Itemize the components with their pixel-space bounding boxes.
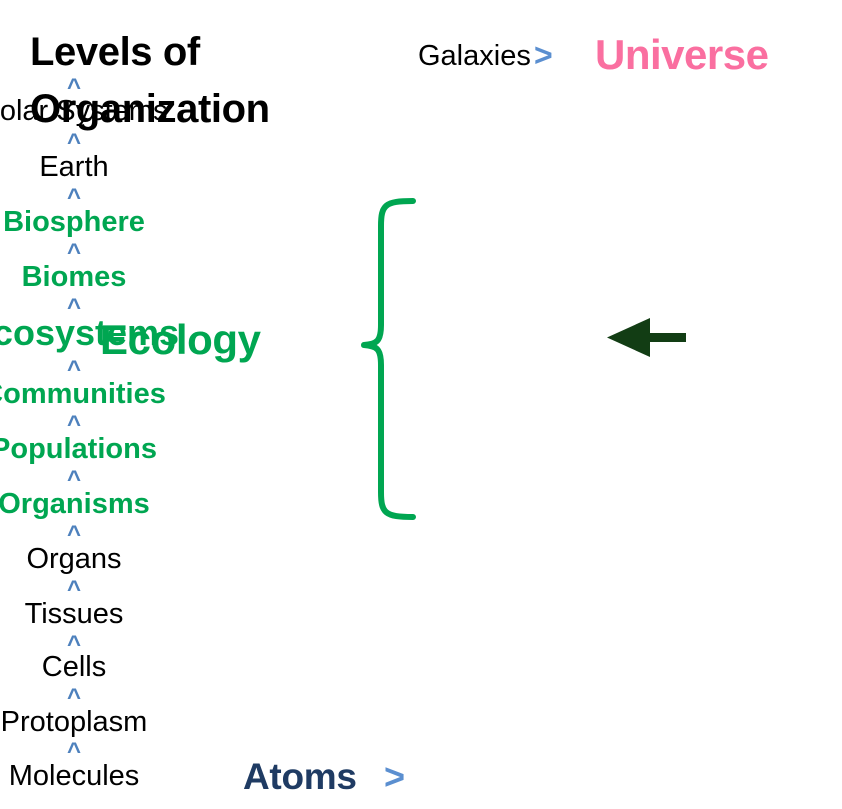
caret-icon-10: ^	[0, 578, 842, 602]
level-label-solar-systems: Solar Systems	[0, 97, 167, 126]
level-row-communities: Communities	[0, 380, 842, 409]
level-label-protoplasm: Protoplasm	[1, 708, 148, 737]
level-row-protoplasm: Protoplasm	[0, 708, 842, 737]
level-label-biomes: Biomes	[22, 263, 127, 292]
levels-ladder: ^ Solar Systems ^ Earth ^ Biosphere ^ Bi…	[0, 0, 842, 809]
level-label-organisms: Organisms	[0, 490, 150, 519]
level-label-organs: Organs	[26, 545, 121, 574]
endpoint-label-atoms: Atoms	[243, 756, 357, 798]
level-label-earth: Earth	[39, 153, 108, 182]
level-label-molecules: Molecules	[9, 762, 140, 791]
level-label-communities: Communities	[0, 380, 166, 409]
level-label-populations: Populations	[0, 435, 157, 464]
level-row-organs: Organs	[0, 545, 842, 574]
level-row-cells: Cells	[0, 653, 842, 682]
level-row-biosphere: Biosphere	[0, 208, 842, 237]
greater-than-icon-bottom: >	[384, 756, 405, 798]
caret-icon-9: ^	[0, 523, 842, 547]
level-row-solar-systems: Solar Systems	[0, 97, 842, 126]
caret-icon-4: ^	[0, 241, 842, 265]
level-row-earth: Earth	[0, 153, 842, 182]
caret-icon-2: ^	[0, 131, 842, 155]
level-row-molecules: Molecules	[0, 762, 842, 791]
level-label-biosphere: Biosphere	[3, 208, 145, 237]
level-row-biomes: Biomes	[0, 263, 842, 292]
group-label-ecology: Ecology	[100, 316, 261, 364]
diagram-canvas: Levels of Organization Galaxies > Univer…	[0, 0, 842, 809]
level-row-populations: Populations	[0, 435, 842, 464]
level-row-organisms: Organisms	[0, 490, 842, 519]
level-label-cells: Cells	[42, 653, 106, 682]
level-label-tissues: Tissues	[25, 600, 124, 629]
level-row-tissues: Tissues	[0, 600, 842, 629]
